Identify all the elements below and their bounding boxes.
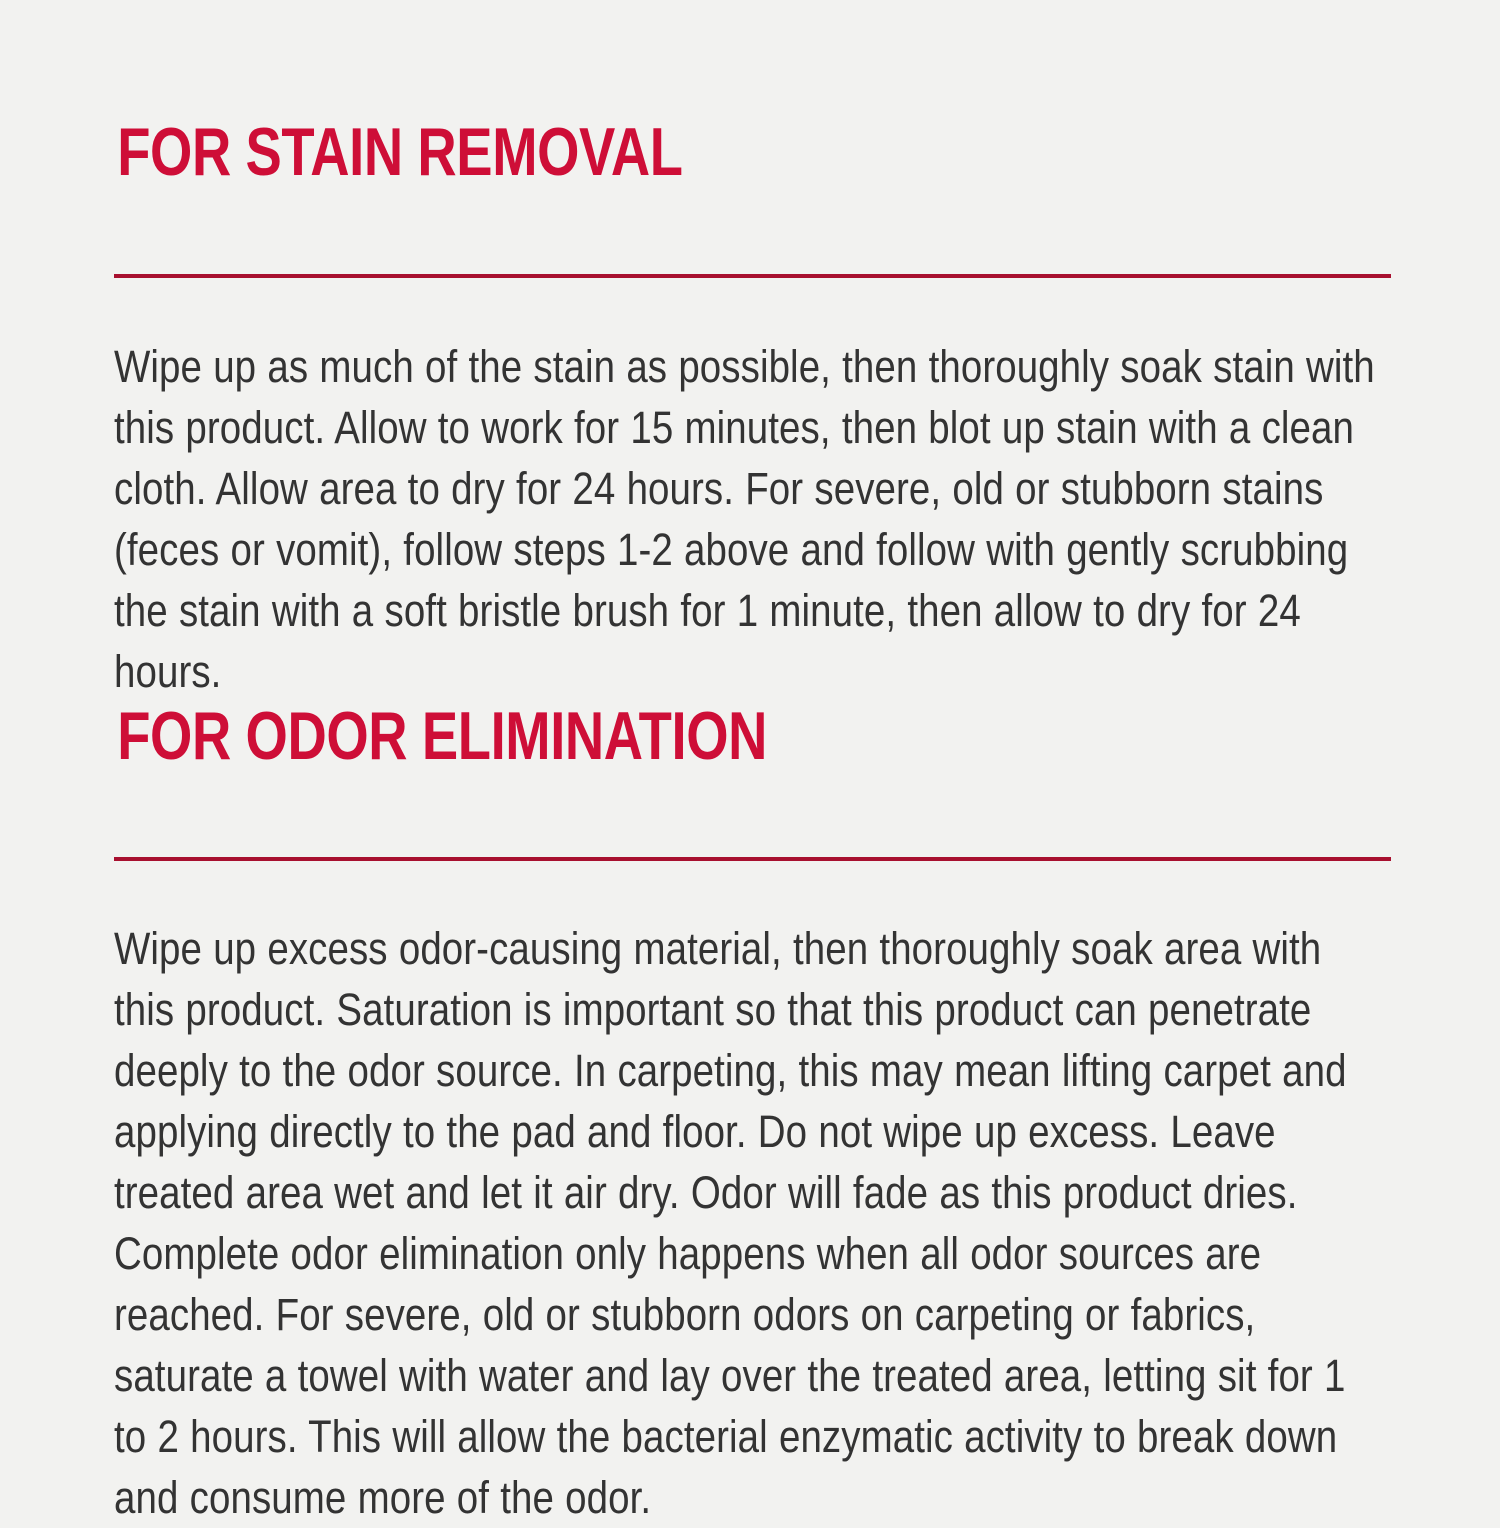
section-body-stain-removal: Wipe up as much of the stain as possible…	[114, 336, 1388, 702]
section-heading-stain-removal: FOR STAIN REMOVAL	[114, 118, 1136, 186]
section-divider-stain-removal	[114, 274, 1391, 278]
section-heading-odor-elimination: FOR ODOR ELIMINATION	[114, 702, 1136, 770]
section-body-odor-elimination: Wipe up excess odor-causing material, th…	[114, 918, 1388, 1528]
section-divider-odor-elimination	[114, 857, 1391, 861]
section-stain-removal: FOR STAIN REMOVAL Wipe up as much of the…	[114, 118, 1391, 702]
instructions-page: FOR STAIN REMOVAL Wipe up as much of the…	[0, 0, 1500, 1500]
section-odor-elimination: FOR ODOR ELIMINATION Wipe up excess odor…	[114, 702, 1391, 1528]
